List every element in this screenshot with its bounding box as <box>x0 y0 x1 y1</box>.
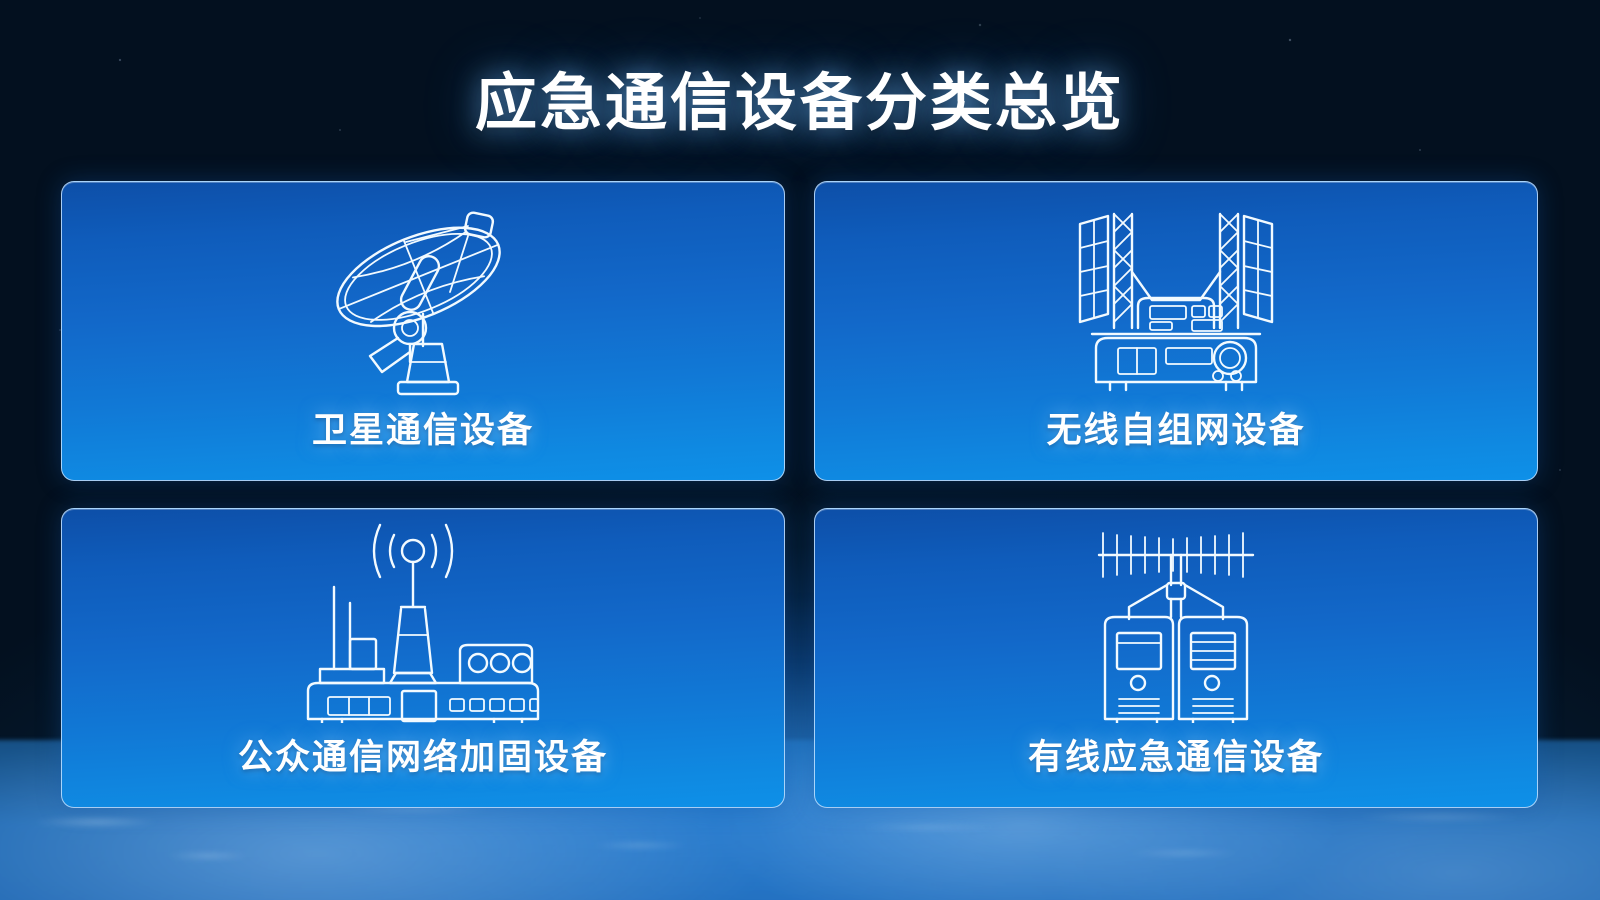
category-card-mesh-network[interactable]: 无线自组网设备 <box>814 181 1538 481</box>
yagi-antenna-cabinets-icon <box>1081 523 1271 723</box>
category-card-grid: 卫星通信设备 <box>61 181 1538 821</box>
satellite-dish-icon <box>318 196 528 396</box>
category-card-public-network[interactable]: 公众通信网络加固设备 <box>61 508 785 808</box>
category-card-label: 卫星通信设备 <box>312 402 534 453</box>
slide: 应急通信设备分类总览 <box>0 0 1600 900</box>
category-card-satellite[interactable]: 卫星通信设备 <box>61 181 785 481</box>
category-card-label: 公众通信网络加固设备 <box>238 729 608 780</box>
category-card-wired-emergency[interactable]: 有线应急通信设备 <box>814 508 1538 808</box>
cell-tower-equipment-icon <box>298 523 548 723</box>
category-card-label: 有线应急通信设备 <box>1028 729 1324 780</box>
mesh-network-node-icon <box>1066 196 1286 396</box>
category-card-label: 无线自组网设备 <box>1046 402 1305 453</box>
page-title: 应急通信设备分类总览 <box>0 52 1600 142</box>
